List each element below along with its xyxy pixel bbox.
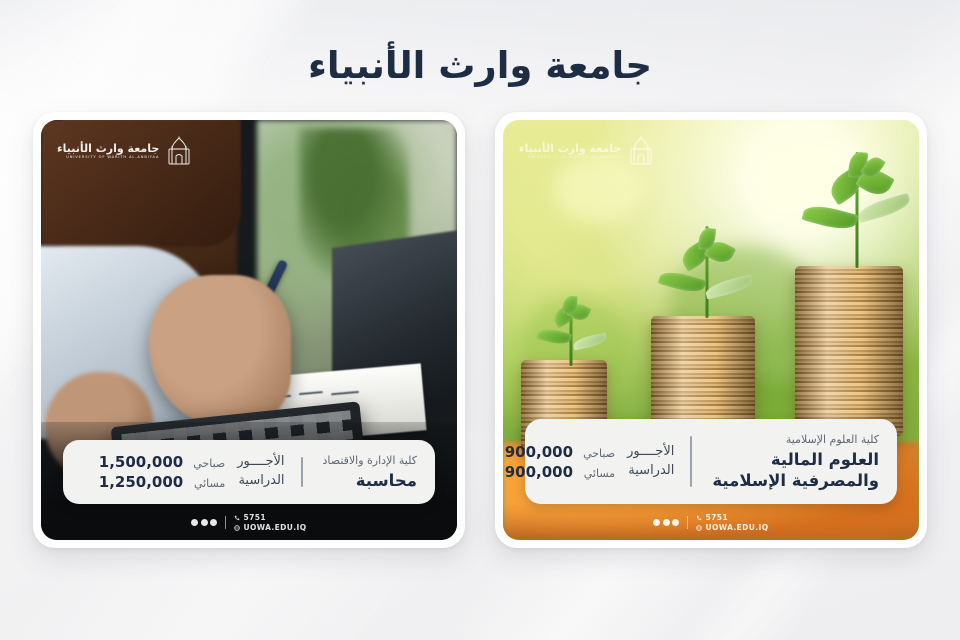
fee-shift-label: صباحي: [581, 447, 615, 460]
fee-shift-label: مسائي: [191, 477, 225, 490]
emblem-english-name: UNIVERSITY OF WARITH AL-ANBIYAA: [528, 156, 621, 160]
fees-block: الأجــــور الدراسية صباحي 1,500,000 مسائ…: [81, 453, 285, 491]
page-title: جامعة وارث الأنبياء: [0, 44, 960, 87]
cards-row: جامعة وارث الأنبياء UNIVERSITY OF WARITH…: [0, 112, 960, 548]
department-block: كلية العلوم الإسلامية العلوم المالية وال…: [708, 432, 879, 491]
fee-shift-label: صباحي: [191, 457, 225, 470]
panel-divider: [690, 436, 692, 487]
contact-lines: 5751 UOWA.EDU.IQ: [234, 513, 306, 532]
card-islamic-finance[interactable]: جامعة وارث الأنبياء UNIVERSITY OF WARITH…: [495, 112, 927, 548]
fees-rows: صباحي 1,500,000 مسائي 1,250,000: [99, 453, 225, 491]
website-url: UOWA.EDU.IQ: [243, 523, 306, 532]
website-url: UOWA.EDU.IQ: [705, 523, 768, 532]
department-block: كلية الإدارة والاقتصاد محاسبة: [319, 453, 417, 491]
panel-divider: [301, 457, 303, 487]
social-icons: [653, 519, 679, 526]
fee-amount: 900,000: [505, 443, 573, 461]
emblem-arabic-name: جامعة وارث الأنبياء: [57, 143, 159, 154]
fees-block: الأجــــور الدراسية صباحي 900,000 مسائي …: [505, 443, 675, 481]
globe-icon: [234, 525, 240, 531]
university-emblem: جامعة وارث الأنبياء UNIVERSITY OF WARITH…: [57, 136, 192, 166]
instagram-icon[interactable]: [663, 519, 670, 526]
footer-separator: [225, 516, 226, 529]
fee-row-morning: صباحي 1,500,000: [99, 453, 225, 471]
facebook-icon[interactable]: [210, 519, 217, 526]
telegram-icon[interactable]: [653, 519, 660, 526]
fee-row-evening: مسائي 900,000: [505, 463, 615, 481]
card-body: جامعة وارث الأنبياء UNIVERSITY OF WARITH…: [503, 120, 919, 540]
contact-lines: 5751 UOWA.EDU.IQ: [696, 513, 768, 532]
social-icons: [191, 519, 217, 526]
website-line[interactable]: UOWA.EDU.IQ: [696, 523, 768, 532]
tuition-info-panel: كلية الإدارة والاقتصاد محاسبة الأجــــور…: [63, 440, 435, 504]
seedling-large: [803, 152, 911, 268]
telegram-icon[interactable]: [191, 519, 198, 526]
shrine-dome-icon: [628, 136, 654, 166]
fee-amount: 1,500,000: [99, 453, 183, 471]
phone-number: 5751: [243, 513, 265, 522]
phone-icon: [234, 515, 240, 521]
college-name: كلية الإدارة والاقتصاد: [323, 453, 417, 470]
card-accounting[interactable]: جامعة وارث الأنبياء UNIVERSITY OF WARITH…: [33, 112, 465, 548]
coin-stack-large: [795, 266, 903, 436]
phone-line[interactable]: 5751: [234, 513, 306, 522]
card-body: جامعة وارث الأنبياء UNIVERSITY OF WARITH…: [41, 120, 457, 540]
phone-icon: [696, 515, 702, 521]
card-contact-footer: 5751 UOWA.EDU.IQ: [503, 513, 919, 532]
fees-label: الأجــــور الدراسية: [237, 453, 284, 491]
card-contact-footer: 5751 UOWA.EDU.IQ: [41, 513, 457, 532]
fee-amount: 1,250,000: [99, 473, 183, 491]
department-name: محاسبة: [323, 470, 417, 491]
fee-amount: 900,000: [505, 463, 573, 481]
website-line[interactable]: UOWA.EDU.IQ: [234, 523, 306, 532]
tuition-info-panel: كلية العلوم الإسلامية العلوم المالية وال…: [525, 419, 897, 504]
facebook-icon[interactable]: [672, 519, 679, 526]
university-emblem: جامعة وارث الأنبياء UNIVERSITY OF WARITH…: [519, 136, 654, 166]
emblem-arabic-name: جامعة وارث الأنبياء: [519, 143, 621, 154]
seedling-medium: [659, 226, 755, 318]
globe-icon: [696, 525, 702, 531]
fee-row-morning: صباحي 900,000: [505, 443, 615, 461]
department-name: العلوم المالية والمصرفية الإسلامية: [712, 449, 879, 491]
phone-number: 5751: [705, 513, 727, 522]
fees-rows: صباحي 900,000 مسائي 900,000: [505, 443, 615, 481]
footer-separator: [687, 516, 688, 529]
fees-label: الأجــــور الدراسية: [627, 443, 674, 481]
emblem-wordmark: جامعة وارث الأنبياء UNIVERSITY OF WARITH…: [519, 143, 621, 160]
seedling-small: [533, 296, 609, 366]
emblem-wordmark: جامعة وارث الأنبياء UNIVERSITY OF WARITH…: [57, 143, 159, 160]
phone-line[interactable]: 5751: [696, 513, 768, 522]
instagram-icon[interactable]: [201, 519, 208, 526]
college-name: كلية العلوم الإسلامية: [712, 432, 879, 449]
emblem-english-name: UNIVERSITY OF WARITH AL-ANBIYAA: [66, 156, 159, 160]
fee-shift-label: مسائي: [581, 467, 615, 480]
shrine-dome-icon: [166, 136, 192, 166]
fee-row-evening: مسائي 1,250,000: [99, 473, 225, 491]
